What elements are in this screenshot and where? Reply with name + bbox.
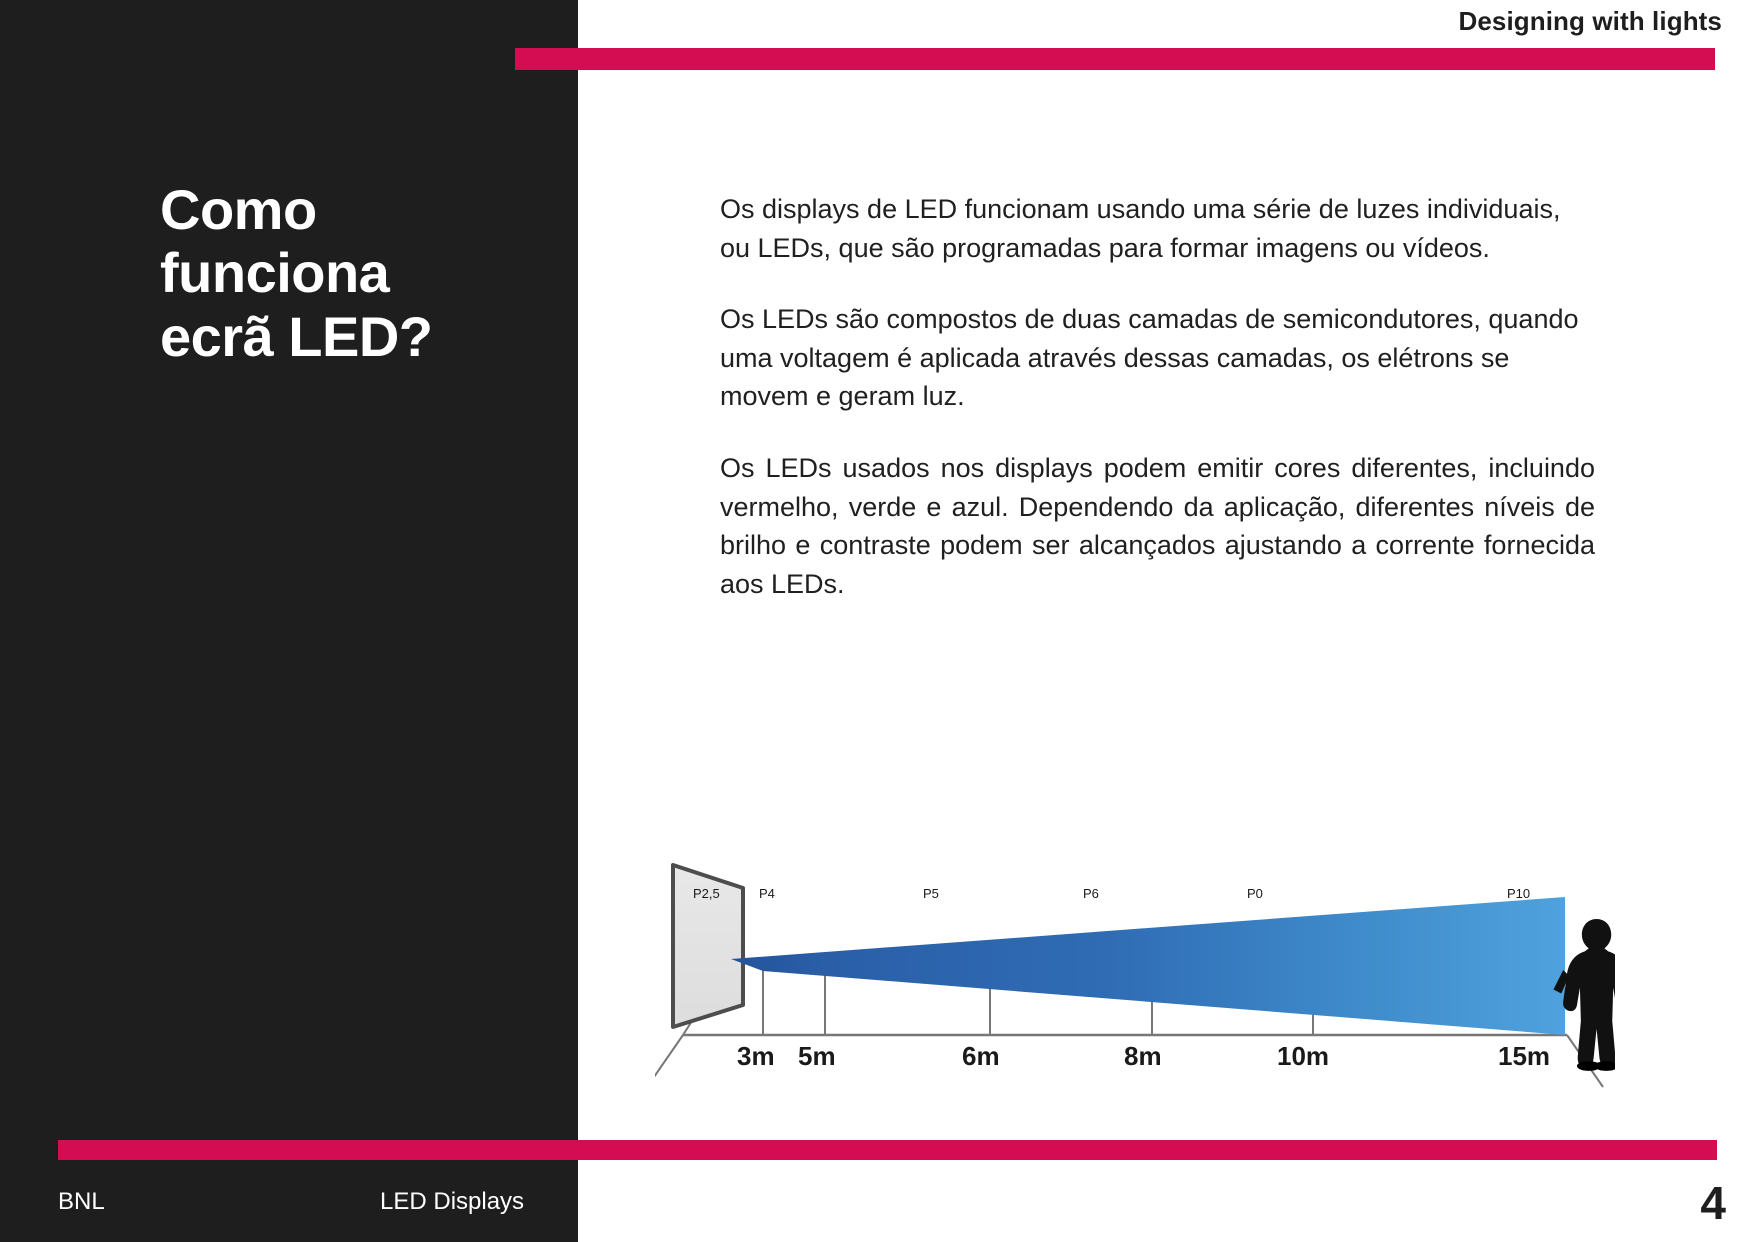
distance-label-2: 6m	[962, 1041, 1000, 1071]
body-paragraph-3: Os LEDs usados nos displays podem emitir…	[720, 449, 1595, 603]
header-title: Designing with lights	[1458, 6, 1722, 37]
page-title-line-2: funciona	[160, 241, 560, 304]
distance-label-5: 15m	[1498, 1041, 1550, 1071]
body-copy: Os displays de LED funcionam usando uma …	[720, 190, 1595, 603]
distance-label-0: 3m	[737, 1041, 775, 1071]
header-accent-bar	[515, 48, 1715, 70]
distance-label-3: 8m	[1124, 1041, 1162, 1071]
viewing-cone	[731, 897, 1565, 1035]
pitch-label-5: P10	[1507, 886, 1530, 901]
footer-section-label: LED Displays	[380, 1188, 524, 1216]
page-title: Como funciona ecrã LED?	[160, 178, 560, 368]
pitch-label-2: P5	[923, 886, 939, 901]
pitch-label-4: P0	[1247, 886, 1263, 901]
footer-accent-bar	[58, 1140, 1717, 1160]
pitch-label-3: P6	[1083, 886, 1099, 901]
footer-brand: BNL	[58, 1188, 105, 1216]
page-number: 4	[1700, 1180, 1726, 1226]
body-paragraph-1: Os displays de LED funcionam usando uma …	[720, 190, 1595, 267]
viewing-distance-diagram: P2,5 P4 P5 P6 P0 P10 3m 5m 6m 8m 10m 15m	[655, 855, 1615, 1120]
pitch-label-1: P4	[759, 886, 775, 901]
distance-label-4: 10m	[1277, 1041, 1329, 1071]
page-title-line-1: Como	[160, 178, 560, 241]
body-paragraph-2: Os LEDs são compostos de duas camadas de…	[720, 300, 1595, 416]
slide: Designing with lights Como funciona ecrã…	[0, 0, 1754, 1242]
distance-label-1: 5m	[798, 1041, 836, 1071]
pitch-label-0: P2,5	[693, 886, 720, 901]
page-title-line-3: ecrã LED?	[160, 305, 560, 368]
floor-left-edge	[655, 1035, 683, 1087]
